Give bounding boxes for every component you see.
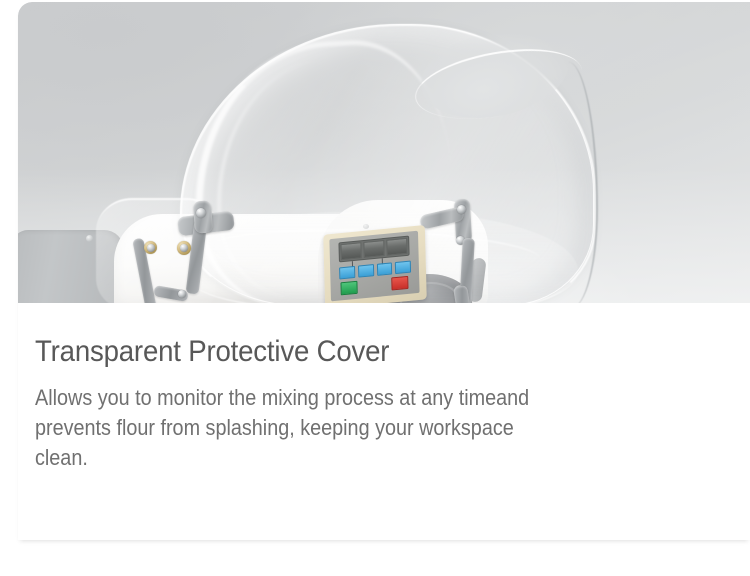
- display-window-2: [363, 240, 384, 258]
- blue-button-3[interactable]: [376, 262, 392, 276]
- display-window-3: [386, 238, 407, 256]
- blue-button-1[interactable]: [339, 266, 355, 280]
- left-hinge-bolt-left-icon: [147, 244, 155, 252]
- start-button-green[interactable]: [340, 281, 357, 296]
- description-line-2: prevents flour from splashing, keeping y…: [35, 413, 701, 443]
- cover-right-edge: [524, 62, 598, 303]
- control-panel[interactable]: [323, 225, 426, 303]
- control-panel-face: [329, 231, 419, 302]
- left-hinge-bolt-top-icon: [196, 208, 206, 218]
- blue-button-2[interactable]: [358, 264, 374, 278]
- housing-bolt-icon: [86, 235, 93, 242]
- right-hinge-bolt-top-icon: [457, 205, 466, 214]
- description-line-3: clean.: [35, 443, 701, 473]
- stop-button-red[interactable]: [391, 276, 408, 291]
- blue-button-4[interactable]: [395, 261, 411, 275]
- text-area: Transparent Protective Cover Allows you …: [18, 303, 750, 540]
- left-hinge-bolt-mid-icon: [180, 244, 188, 252]
- feature-description: Allows you to monitor the mixing process…: [35, 383, 701, 473]
- action-button-row: [340, 275, 412, 295]
- display-window-1: [340, 242, 361, 260]
- display-window-group: [338, 236, 409, 263]
- description-line-1: Allows you to monitor the mixing process…: [35, 383, 701, 413]
- product-photo: [18, 2, 750, 303]
- page-title: Transparent Protective Cover: [35, 335, 389, 368]
- feature-card: Transparent Protective Cover Allows you …: [18, 2, 750, 540]
- left-hinge-foot-bolt-icon: [178, 290, 186, 298]
